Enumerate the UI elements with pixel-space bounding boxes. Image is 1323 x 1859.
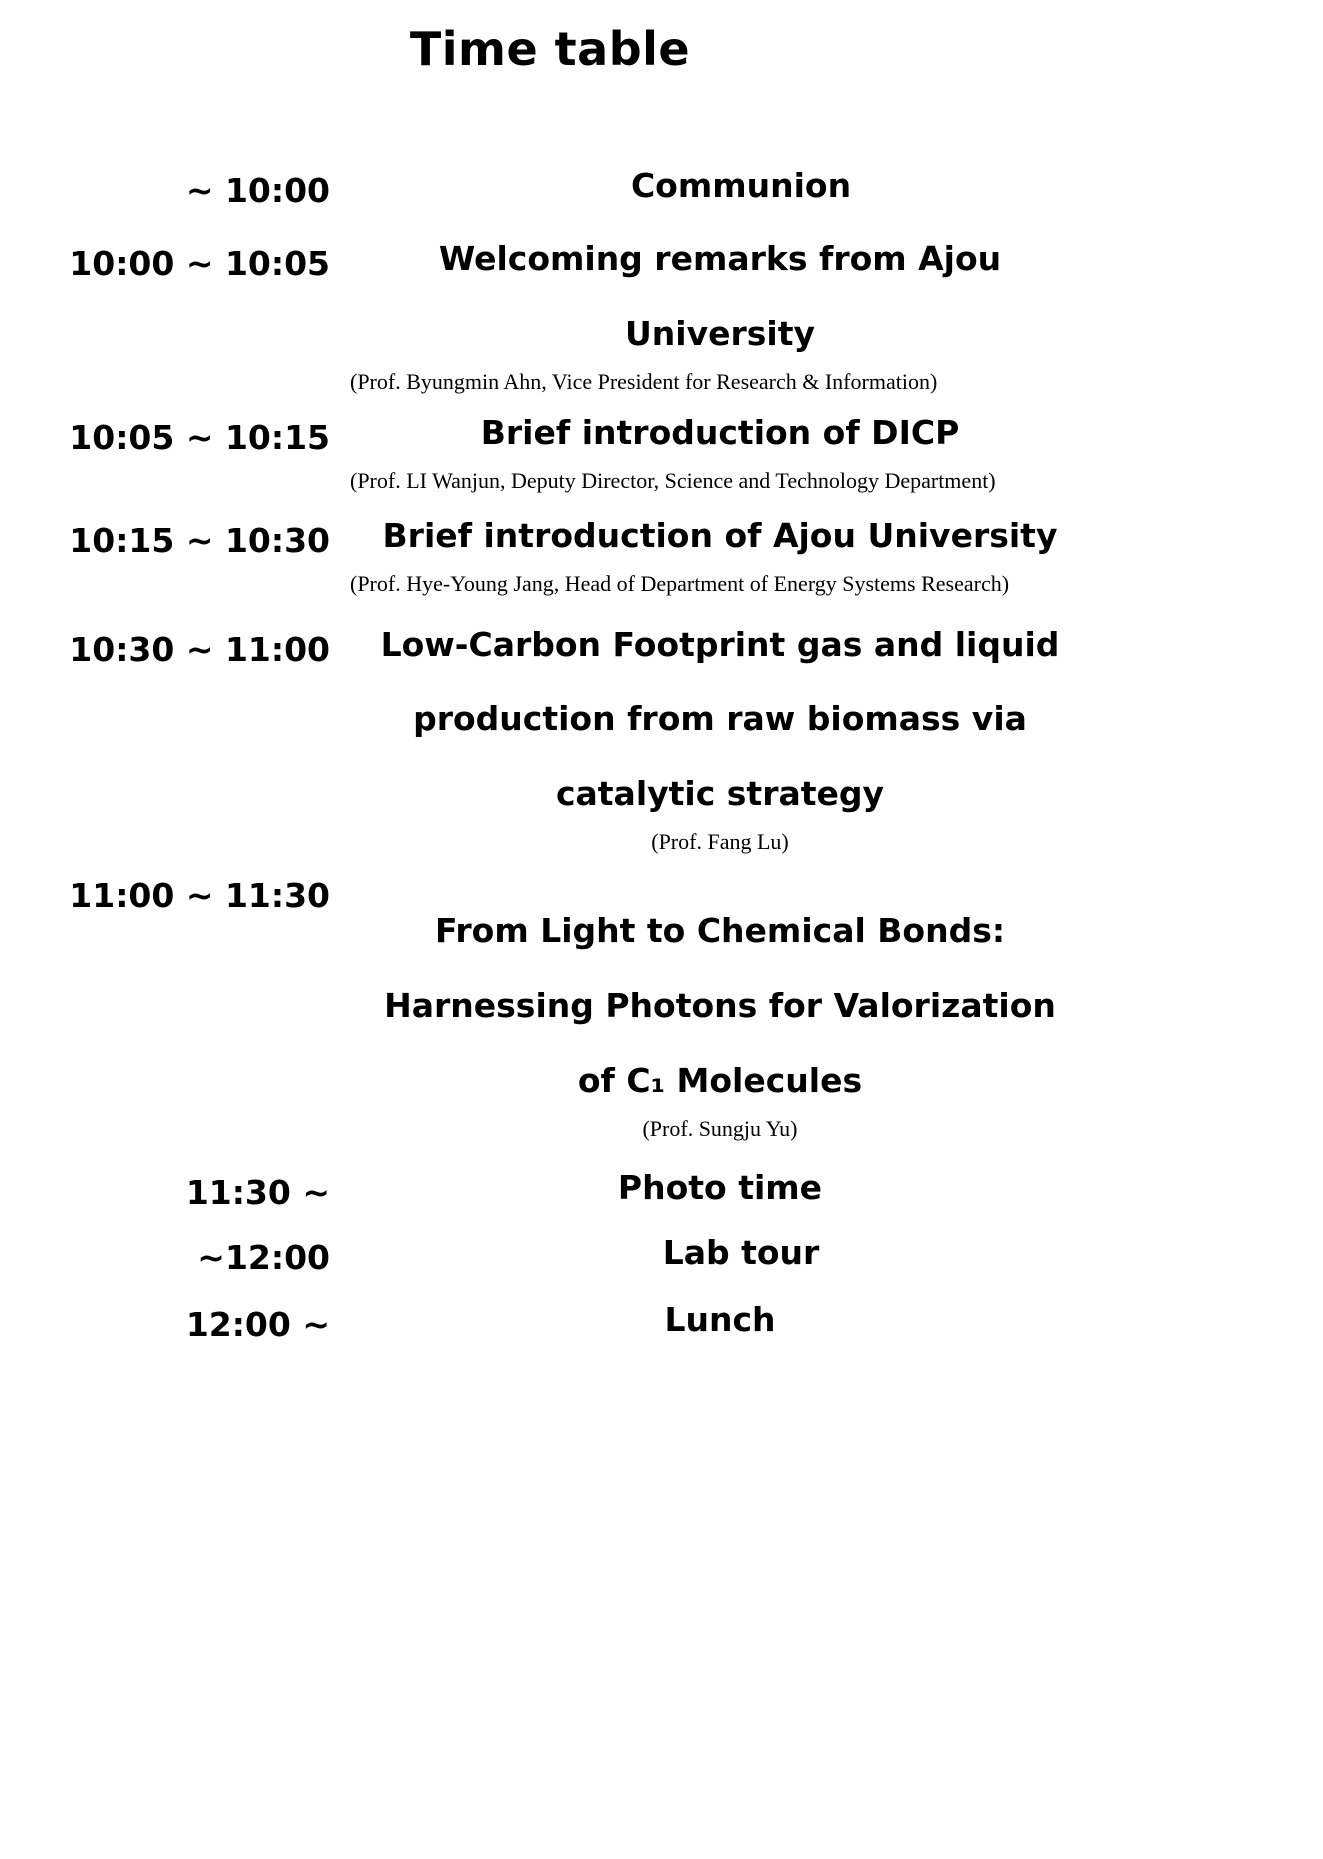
row-title-line: Lab tour [382,1235,1100,1272]
row-title-line: Lunch [340,1302,1100,1339]
row-title-block: Lab tour [382,1235,1100,1272]
row-speaker-note: (Prof. Byungmin Ahn, Vice President for … [340,367,1100,397]
row-time: 10:00 ~ 10:05 [0,241,330,280]
page: Time table ~ 10:00 Communion 10:00 ~ 10:… [0,0,1323,1859]
table-row: 11:30 ~ Photo time [0,1170,1110,1209]
row-title-block: Welcoming remarks from Ajou University [340,241,1100,353]
row-title-line: From Light to Chemical Bonds: [340,913,1100,950]
row-title-block: From Light to Chemical Bonds: Harnessing… [340,913,1100,1100]
row-title-block: Photo time [340,1170,1100,1207]
table-row: 10:15 ~ 10:30 Brief introduction of Ajou… [0,518,1110,599]
row-detail: Photo time [330,1170,1110,1207]
row-title-line: Brief introduction of Ajou University [340,518,1100,555]
row-time: 10:30 ~ 11:00 [0,627,330,666]
row-speaker-note: (Prof. Sungju Yu) [340,1114,1100,1144]
table-row: 10:00 ~ 10:05 Welcoming remarks from Ajo… [0,241,1110,397]
row-detail: Welcoming remarks from Ajou University (… [330,241,1110,397]
row-time: 12:00 ~ [0,1302,330,1341]
row-time: 11:00 ~ 11:30 [0,879,330,912]
row-title-line: catalytic strategy [340,776,1100,813]
row-title-line: Low-Carbon Footprint gas and liquid [340,627,1100,664]
row-title-line: production from raw biomass via [340,701,1100,738]
row-title-block: Lunch [340,1302,1100,1339]
row-speaker-note: (Prof. Fang Lu) [340,827,1100,857]
table-row: 11:00 ~ 11:30 From Light to Chemical Bon… [0,879,1110,1144]
schedule-table: ~ 10:00 Communion 10:00 ~ 10:05 Welcomin… [0,168,1110,1341]
row-title-line: University [340,316,1100,353]
row-title-line: Harnessing Photons for Valorization [340,988,1100,1025]
row-detail: Lunch [330,1302,1110,1339]
row-detail: From Light to Chemical Bonds: Harnessing… [330,879,1110,1144]
table-row: 10:30 ~ 11:00 Low-Carbon Footprint gas a… [0,627,1110,858]
row-title-line: Photo time [340,1170,1100,1207]
row-title-line: Welcoming remarks from Ajou [340,241,1100,278]
page-title: Time table [0,22,1100,76]
row-speaker-note: (Prof. Hye-Young Jang, Head of Departmen… [340,569,1100,599]
row-detail: Communion [372,168,1110,205]
row-detail: Brief introduction of DICP (Prof. LI Wan… [330,415,1110,496]
row-time: 10:15 ~ 10:30 [0,518,330,557]
row-speaker-note: (Prof. LI Wanjun, Deputy Director, Scien… [340,466,1100,496]
row-time: ~12:00 [0,1235,372,1274]
table-row: 12:00 ~ Lunch [0,1302,1110,1341]
row-detail: Lab tour [372,1235,1110,1272]
row-time: 10:05 ~ 10:15 [0,415,330,454]
row-title-line: Brief introduction of DICP [340,415,1100,452]
row-time: ~ 10:00 [0,168,372,207]
row-title-line: of C₁ Molecules [340,1063,1100,1100]
row-title-block: Communion [382,168,1100,205]
row-time: 11:30 ~ [0,1170,330,1209]
table-row: ~ 10:00 Communion [0,168,1110,207]
row-title-block: Brief introduction of Ajou University [340,518,1100,555]
table-row: 10:05 ~ 10:15 Brief introduction of DICP… [0,415,1110,496]
table-row: ~12:00 Lab tour [0,1235,1110,1274]
row-title-block: Brief introduction of DICP [340,415,1100,452]
row-detail: Low-Carbon Footprint gas and liquid prod… [330,627,1110,858]
row-title-line: Communion [382,168,1100,205]
row-detail: Brief introduction of Ajou University (P… [330,518,1110,599]
row-title-block: Low-Carbon Footprint gas and liquid prod… [340,627,1100,814]
